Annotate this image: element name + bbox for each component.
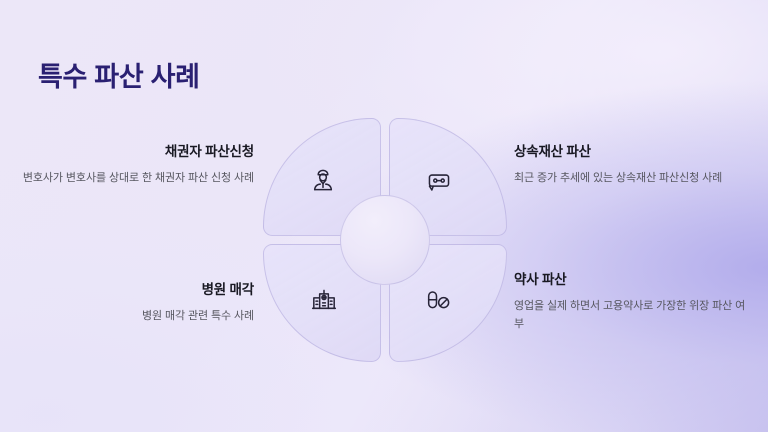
donut-center-hole — [340, 195, 430, 285]
item-title: 채권자 파산신청 — [22, 144, 254, 161]
item-title: 상속재산 파산 — [514, 144, 746, 161]
item-hospital-sale: 병원 매각 병원 매각 관련 특수 사례 — [22, 282, 254, 326]
item-description: 최근 증가 추세에 있는 상속재산 파산신청 사례 — [514, 170, 746, 188]
item-description: 병원 매각 관련 특수 사례 — [22, 308, 254, 326]
item-inherited-estate-bankruptcy: 상속재산 파산 최근 증가 추세에 있는 상속재산 파산신청 사례 — [514, 144, 746, 188]
item-creditor-bankruptcy: 채권자 파산신청 변호사가 변호사를 상대로 한 채권자 파산 신청 사례 — [22, 144, 254, 188]
item-title: 약사 파산 — [514, 272, 746, 289]
item-description: 변호사가 변호사를 상대로 한 채권자 파산 신청 사례 — [22, 170, 254, 188]
slide-canvas: 특수 파산 사례 채권자 파산신청 변호사가 변호사를 상대로 한 채권자 파산… — [0, 0, 768, 432]
inheritance-document-icon — [426, 169, 452, 195]
hospital-building-icon — [311, 286, 337, 312]
item-title: 병원 매각 — [22, 282, 254, 299]
lawyer-judge-icon — [310, 167, 336, 193]
item-description: 영업을 실제 하면서 고용약사로 가장한 위장 파산 여부 — [514, 298, 746, 334]
page-title: 특수 파산 사례 — [38, 55, 200, 94]
pill-prohibited-icon — [425, 287, 451, 313]
item-pharmacist-bankruptcy: 약사 파산 영업을 실제 하면서 고용약사로 가장한 위장 파산 여부 — [514, 272, 746, 334]
quadrant-donut-diagram — [263, 118, 507, 362]
